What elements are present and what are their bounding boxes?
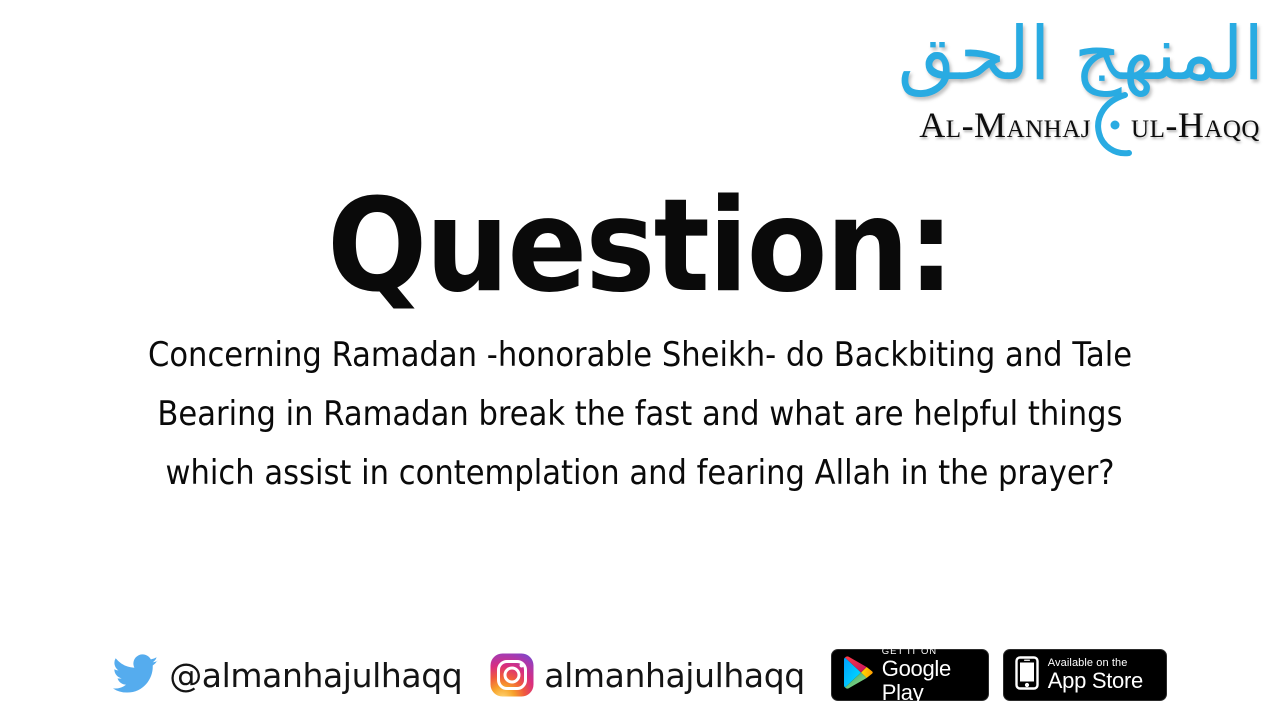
- instagram-camera-icon: [490, 653, 534, 697]
- footer-social-bar: @almanhajulhaqq: [0, 640, 1280, 710]
- app-store-large-label: App Store: [1048, 669, 1143, 693]
- iphone-icon: [1015, 656, 1039, 695]
- instagram-handle: almanhajulhaqq: [544, 656, 805, 695]
- app-store-badge-text: Available on the App Store: [1048, 658, 1143, 693]
- twitter-link[interactable]: @almanhajulhaqq: [113, 652, 462, 698]
- twitter-bird-icon: [113, 652, 159, 698]
- google-play-badge-text: GET IT ON Google Play: [882, 646, 974, 705]
- google-play-badge[interactable]: GET IT ON Google Play: [831, 649, 989, 701]
- question-line: which assist in contemplation and fearin…: [64, 444, 1216, 503]
- logo-swash-icon: [1091, 107, 1131, 147]
- question-line: Bearing in Ramadan break the fast and wh…: [64, 385, 1216, 444]
- question-body: Concerning Ramadan -honorable Sheikh- do…: [0, 326, 1280, 503]
- logo-arabic-calligraphy: المنهج الحق: [864, 4, 1264, 104]
- logo-wordmark-left: Al-Manhaj: [919, 104, 1091, 146]
- slide-canvas: المنهج الحق Al-Manhajul-Haqq Question: C…: [0, 0, 1280, 720]
- twitter-handle: @almanhajulhaqq: [169, 656, 462, 695]
- logo-wordmark-right: ul-Haqq: [1131, 104, 1260, 146]
- app-store-badge[interactable]: Available on the App Store: [1003, 649, 1167, 701]
- slide-content: Question: Concerning Ramadan -honorable …: [0, 178, 1280, 503]
- google-play-triangle-icon: [843, 656, 873, 694]
- brand-logo: المنهج الحق Al-Manhajul-Haqq: [772, 8, 1272, 158]
- logo-wordmark: Al-Manhajul-Haqq: [780, 104, 1260, 147]
- page-title: Question:: [51, 178, 1229, 316]
- question-line: Concerning Ramadan -honorable Sheikh- do…: [64, 326, 1216, 385]
- google-play-large-label: Google Play: [882, 657, 974, 705]
- google-play-small-label: GET IT ON: [882, 646, 974, 657]
- app-store-small-label: Available on the: [1048, 658, 1143, 669]
- instagram-link[interactable]: almanhajulhaqq: [490, 653, 805, 697]
